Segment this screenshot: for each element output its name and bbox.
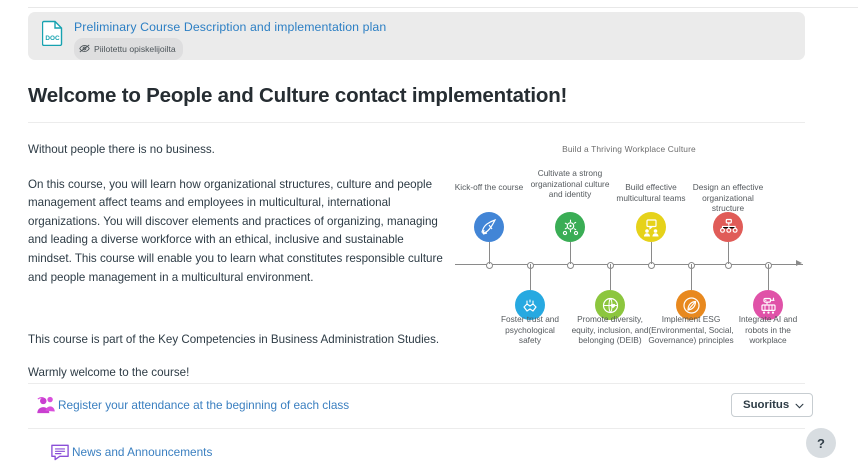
team-chat-icon (636, 212, 666, 242)
timeline-connector (768, 264, 769, 290)
help-button[interactable]: ? (806, 428, 836, 458)
attachment-title[interactable]: Preliminary Course Description and imple… (74, 20, 386, 34)
links-divider-top (28, 383, 805, 384)
status-badge-label: Piilotettu opiskelijoilta (94, 44, 176, 54)
link-row-attendance[interactable]: Register your attendance at the beginnin… (34, 393, 349, 417)
paragraph-intro: Without people there is no business. (28, 141, 448, 160)
paragraph-welcome: Warmly welcome to the course! (28, 364, 448, 383)
infographic-step-label: Implement ESG (Environmental, Social, Go… (648, 314, 734, 346)
link-label-attendance[interactable]: Register your attendance at the beginnin… (58, 398, 349, 412)
timeline-arrow-icon (796, 260, 802, 266)
title-divider (28, 122, 805, 123)
attachment-card[interactable]: DOC Preliminary Course Description and i… (28, 12, 805, 60)
course-home-page: DOC Preliminary Course Description and i… (0, 0, 858, 474)
suoritus-dropdown-button[interactable]: Suoritus (731, 393, 813, 417)
timeline-connector (610, 264, 611, 290)
rocket-launch-icon (474, 212, 504, 242)
infographic-step-label: Foster trust and psychological safety (493, 314, 567, 346)
timeline-connector (530, 264, 531, 290)
org-chart-icon (713, 212, 743, 242)
infographic-step-label: Promote diversity, equity, inclusion, an… (569, 314, 651, 346)
timeline-connector (570, 242, 571, 264)
infographic-step-label: Integrate AI and robots in the workplace (728, 314, 808, 346)
infographic-step-label: Build effective multicultural teams (611, 182, 691, 203)
chevron-down-icon (795, 400, 803, 408)
course-description: Without people there is no business. On … (28, 141, 448, 382)
timeline-connector (691, 264, 692, 290)
attachment-meta: Preliminary Course Description and imple… (74, 20, 386, 60)
workplace-culture-infographic: Build a Thriving Workplace Culture Kick-… (452, 140, 806, 372)
infographic-step-label: Design an effective organizational struc… (688, 182, 768, 214)
culture-gear-icon (555, 212, 585, 242)
timeline-connector (651, 242, 652, 264)
timeline-axis (455, 264, 803, 265)
attendance-people-icon (34, 393, 58, 417)
timeline-connector (489, 242, 490, 264)
infographic-step-label: Kick-off the course (453, 182, 525, 193)
suoritus-label: Suoritus (743, 399, 789, 411)
infographic-step-label: Cultivate a strong organizational cultur… (530, 168, 610, 200)
svg-text:DOC: DOC (45, 35, 60, 42)
top-divider (28, 7, 858, 8)
paragraph-competencies: This course is part of the Key Competenc… (28, 331, 448, 350)
doc-file-icon: DOC (42, 20, 64, 46)
announcement-icon (48, 440, 72, 464)
eye-slash-icon (79, 40, 90, 58)
infographic-title: Build a Thriving Workplace Culture (452, 144, 806, 154)
paragraph-main: On this course, you will learn how organ… (28, 176, 448, 288)
timeline-connector (728, 242, 729, 264)
status-badge: Piilotettu opiskelijoilta (74, 38, 183, 60)
link-label-news[interactable]: News and Announcements (72, 445, 212, 459)
link-row-news[interactable]: News and Announcements (48, 440, 212, 464)
page-title: Welcome to People and Culture contact im… (28, 84, 567, 108)
links-divider-bottom (28, 428, 805, 429)
